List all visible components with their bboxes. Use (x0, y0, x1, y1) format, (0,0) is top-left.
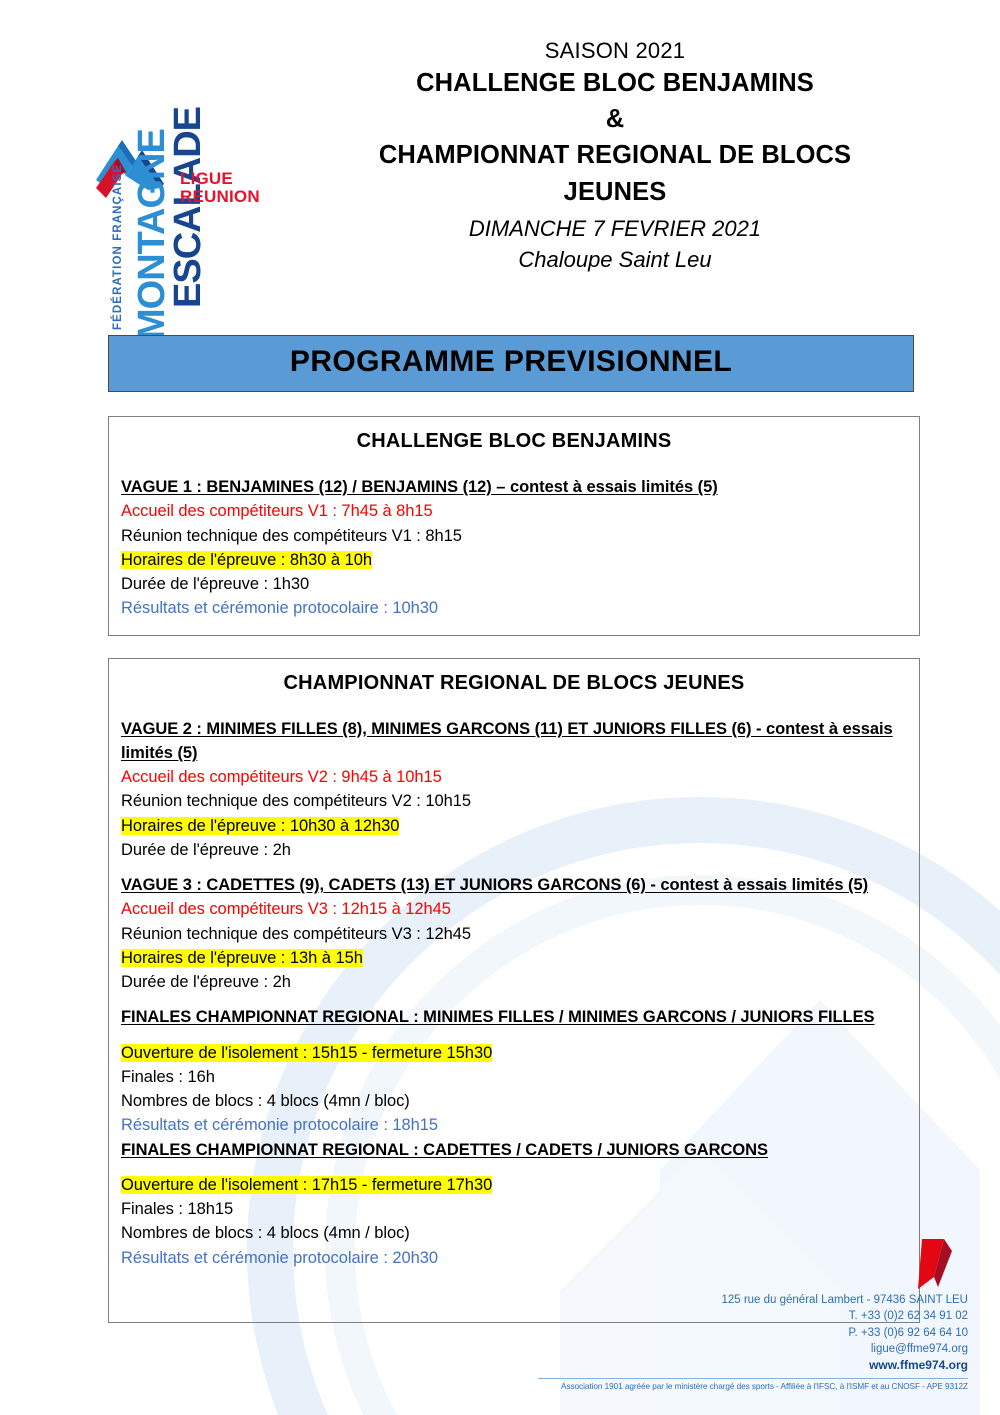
event-title-ampersand: & (300, 101, 930, 137)
footer-divider (538, 1378, 968, 1379)
highlighted-text: Ouverture de l'isolement : 15h15 - ferme… (121, 1044, 492, 1062)
programme-banner-label: PROGRAMME PREVISIONNEL (290, 345, 732, 378)
section-box-challenge-bloc-benjamins: CHALLENGE BLOC BENJAMINS VAGUE 1 : BENJA… (108, 416, 920, 636)
programme-line: Réunion technique des compétiteurs V2 : … (121, 789, 907, 813)
logo-ligue-line: LIGUE (180, 170, 260, 188)
ffme-ligue-reunion-logo: FÉDÉRATION FRANÇAISE MONTAGNE ESCALADE L… (0, 18, 300, 328)
programme-line: Accueil des compétiteurs V2 : 9h45 à 10h… (121, 765, 907, 789)
logo-federation-text: FÉDÉRATION FRANÇAISE (112, 164, 124, 330)
logo-escalade-text: ESCALADE (167, 107, 210, 308)
programme-line: Horaires de l'épreuve : 8h30 à 10h (121, 548, 907, 572)
footer-website[interactable]: www.ffme974.org (538, 1357, 968, 1374)
line-spacer (121, 994, 907, 1005)
highlighted-text: Horaires de l'épreuve : 13h à 15h (121, 949, 363, 967)
event-title-line-1: CHALLENGE BLOC BENJAMINS (300, 65, 930, 101)
line-spacer (121, 862, 907, 873)
footer-email[interactable]: ligue@ffme974.org (538, 1341, 968, 1357)
document-header: FÉDÉRATION FRANÇAISE MONTAGNE ESCALADE L… (0, 0, 1000, 335)
programme-line: Finales : 16h (121, 1065, 907, 1089)
programme-line: Nombres de blocs : 4 blocs (4mn / bloc) (121, 1089, 907, 1113)
line-spacer (121, 1162, 907, 1173)
programme-line: Ouverture de l'isolement : 17h15 - ferme… (121, 1173, 907, 1197)
event-title-line-2: CHAMPIONNAT REGIONAL DE BLOCS (300, 137, 930, 173)
programme-line: Durée de l'épreuve : 2h (121, 970, 907, 994)
footer-mobile: P. +33 (0)6 92 64 64 10 (538, 1325, 968, 1341)
programme-line: Nombres de blocs : 4 blocs (4mn / bloc) (121, 1221, 907, 1245)
footer-contact-block: 125 rue du général Lambert - 97436 SAINT… (538, 1292, 968, 1393)
footer-address: 125 rue du général Lambert - 97436 SAINT… (538, 1292, 968, 1308)
programme-line: Ouverture de l'isolement : 15h15 - ferme… (121, 1041, 907, 1065)
programme-line: VAGUE 2 : MINIMES FILLES (8), MINIMES GA… (121, 717, 907, 766)
highlighted-text: Horaires de l'épreuve : 10h30 à 12h30 (121, 817, 399, 835)
programme-line: Horaires de l'épreuve : 10h30 à 12h30 (121, 814, 907, 838)
programme-line: VAGUE 1 : BENJAMINES (12) / BENJAMINS (1… (121, 475, 907, 499)
section-title: CHALLENGE BLOC BENJAMINS (121, 427, 907, 457)
event-date: DIMANCHE 7 FEVRIER 2021 (300, 210, 930, 244)
season-label: SAISON 2021 (300, 36, 930, 65)
highlighted-text: Ouverture de l'isolement : 17h15 - ferme… (121, 1176, 492, 1194)
line-spacer (121, 1030, 907, 1041)
footer-phone: T. +33 (0)2 62 34 91 02 (538, 1308, 968, 1324)
footer-legal-notice: Association 1901 agréée par le ministère… (538, 1382, 968, 1393)
programme-line: Résultats et cérémonie protocolaire : 20… (121, 1246, 907, 1270)
programme-line: Accueil des compétiteurs V1 : 7h45 à 8h1… (121, 499, 907, 523)
section-box-championnat-regional-blocs-jeunes: CHAMPIONNAT REGIONAL DE BLOCS JEUNES VAG… (108, 658, 920, 1323)
programme-line: Durée de l'épreuve : 1h30 (121, 572, 907, 596)
programme-line: Résultats et cérémonie protocolaire : 10… (121, 596, 907, 620)
event-title-line-3: JEUNES (300, 174, 930, 210)
programme-line: Résultats et cérémonie protocolaire : 18… (121, 1113, 907, 1137)
section-title: CHAMPIONNAT REGIONAL DE BLOCS JEUNES (121, 669, 907, 699)
programme-line: Horaires de l'épreuve : 13h à 15h (121, 946, 907, 970)
programme-line: Réunion technique des compétiteurs V3 : … (121, 922, 907, 946)
logo-ligue-reunion-text: LIGUE REUNION (180, 170, 260, 207)
logo-reunion-line: REUNION (180, 188, 260, 206)
highlighted-text: Horaires de l'épreuve : 8h30 à 10h (121, 551, 372, 569)
programme-line: Durée de l'épreuve : 2h (121, 838, 907, 862)
programme-line: FINALES CHAMPIONNAT REGIONAL : CADETTES … (121, 1138, 907, 1162)
programme-line: FINALES CHAMPIONNAT REGIONAL : MINIMES F… (121, 1005, 907, 1029)
programme-line: Finales : 18h15 (121, 1197, 907, 1221)
programme-line: Réunion technique des compétiteurs V1 : … (121, 524, 907, 548)
section-lines: VAGUE 2 : MINIMES FILLES (8), MINIMES GA… (121, 699, 907, 1270)
title-block: SAISON 2021 CHALLENGE BLOC BENJAMINS & C… (300, 18, 1000, 275)
programme-line: Accueil des compétiteurs V3 : 12h15 à 12… (121, 897, 907, 921)
programme-line: VAGUE 3 : CADETTES (9), CADETS (13) ET J… (121, 873, 907, 897)
footer-red-shape-icon (904, 1237, 960, 1297)
programme-banner: PROGRAMME PREVISIONNEL (108, 335, 914, 392)
section-lines: VAGUE 1 : BENJAMINES (12) / BENJAMINS (1… (121, 457, 907, 621)
event-location: Chaloupe Saint Leu (300, 244, 930, 275)
